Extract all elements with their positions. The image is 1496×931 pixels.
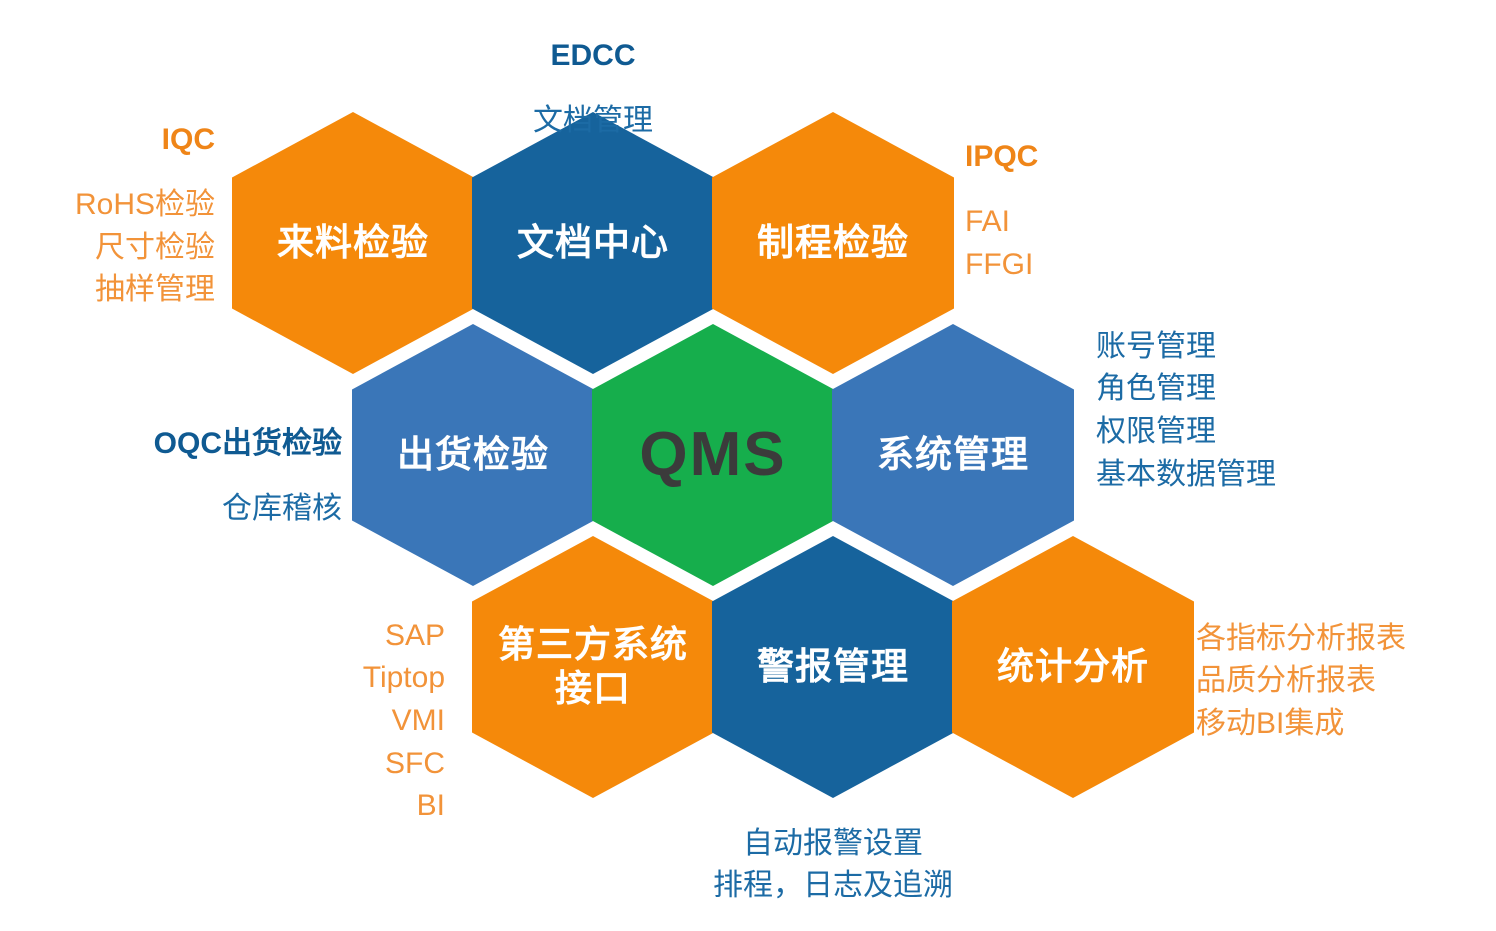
annotation-oqc-items: 仓库稽核 (45, 488, 342, 531)
hexagon-label: 出货检验 (387, 433, 559, 477)
annotation-ipqc: IPQC FAI FFGI (965, 113, 1245, 309)
hexagon-label: 第三方系统 接口 (488, 623, 698, 710)
hexagon-label: 警报管理 (747, 645, 919, 689)
annotation-edcc-items: 文档管理 (443, 100, 743, 143)
annotation-system-management-items: 账号管理 角色管理 权限管理 基本数据管理 (1096, 326, 1426, 496)
annotation-alarm-details: 自动报警设置 排程，日志及追溯 (633, 800, 1033, 931)
hexagon-label: 统计分析 (987, 645, 1159, 689)
annotation-ipqc-items: FAI FFGI (965, 201, 1245, 286)
annotation-statistics-items: 各指标分析报表 品质分析报表 移动BI集成 (1196, 618, 1496, 746)
annotation-oqc-title: OQC出货检验 (45, 423, 342, 466)
annotation-ipqc-title: IPQC (965, 136, 1245, 179)
annotation-iqc-items: RoHS检验 尺寸检验 抽样管理 (0, 184, 215, 312)
hexagon-label: 系统管理 (867, 433, 1039, 477)
diagram-canvas: 来料检验 文档中心 制程检验 出货检验 QMS 系统管理 第三方系统 接口 警报… (0, 0, 1496, 918)
annotation-statistics-details: 各指标分析报表 品质分析报表 移动BI集成 (1196, 595, 1496, 768)
annotation-oqc: OQC出货检验 仓库稽核 (45, 400, 342, 553)
hexagon-label: 文档中心 (507, 221, 679, 265)
hexagon-label: 制程检验 (747, 221, 919, 265)
hexagon-label: 来料检验 (267, 221, 439, 265)
hexagon-statistical-analysis[interactable]: 统计分析 (952, 536, 1194, 798)
hexagon-alarm-management[interactable]: 警报管理 (712, 536, 954, 798)
hexagon-system-management[interactable]: 系统管理 (832, 324, 1074, 586)
annotation-system-management-details: 账号管理 角色管理 权限管理 基本数据管理 (1096, 303, 1426, 519)
annotation-third-party-details: SAP Tiptop VMI SFC BI (230, 592, 445, 850)
hexagon-process-inspection[interactable]: 制程检验 (712, 112, 954, 374)
annotation-iqc-title: IQC (0, 119, 215, 162)
hexagon-incoming-inspection[interactable]: 来料检验 (232, 112, 474, 374)
hexagon-third-party-system[interactable]: 第三方系统 接口 (472, 536, 714, 798)
hexagon-label: QMS (629, 418, 796, 491)
annotation-edcc-title: EDCC (443, 35, 743, 78)
hexagon-qms-core[interactable]: QMS (592, 324, 834, 586)
annotation-alarm-items: 自动报警设置 排程，日志及追溯 (633, 823, 1033, 908)
annotation-edcc: EDCC 文档管理 (443, 12, 743, 165)
annotation-iqc: IQC RoHS检验 尺寸检验 抽样管理 (0, 96, 215, 335)
annotation-third-party-items: SAP Tiptop VMI SFC BI (230, 615, 445, 828)
hexagon-outgoing-inspection[interactable]: 出货检验 (352, 324, 594, 586)
